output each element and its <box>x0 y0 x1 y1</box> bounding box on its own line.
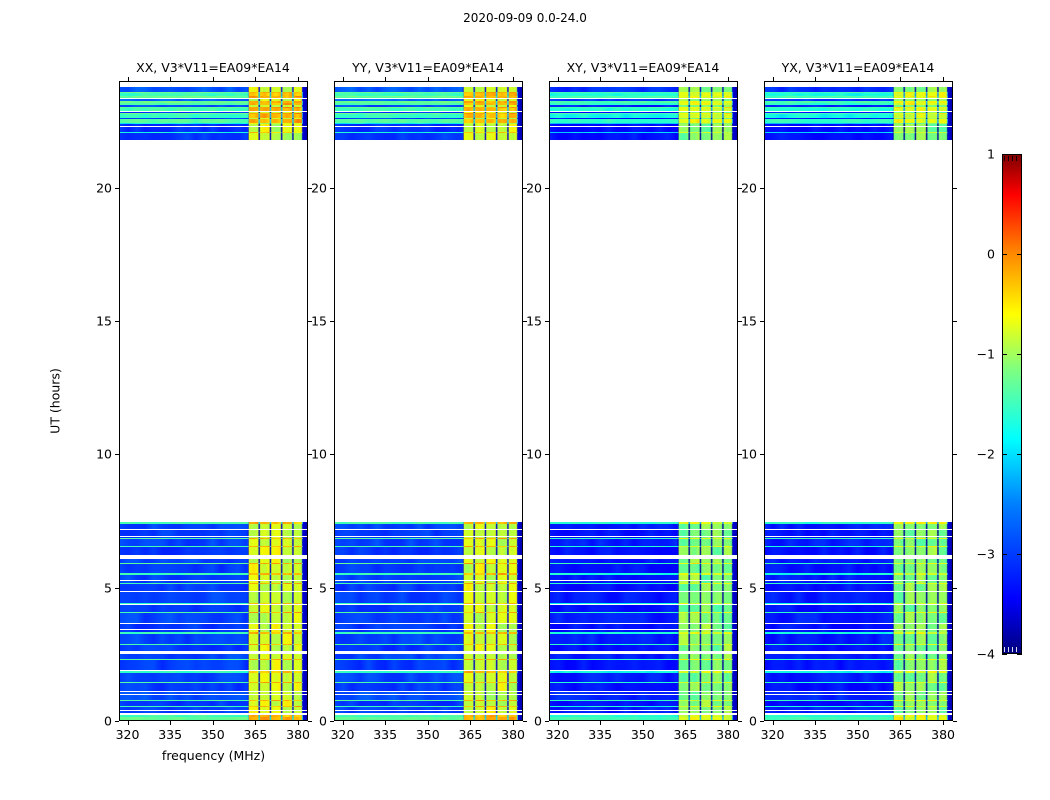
heatmap-row-band <box>550 103 737 106</box>
heatmap-noise <box>550 575 737 583</box>
flagged-time-gap <box>335 580 522 581</box>
flagged-time-gap <box>550 710 737 711</box>
heatmap-noise <box>765 644 952 645</box>
x-tick-top <box>128 77 129 81</box>
heatmap-noise <box>120 539 307 545</box>
heatmap-row-band <box>120 573 307 575</box>
heatmap-row-band <box>550 118 737 119</box>
y-tick <box>330 454 334 455</box>
heatmap-noise <box>120 529 307 530</box>
heatmap-row-band <box>120 683 307 690</box>
heatmap-noise <box>765 573 952 575</box>
x-tick-label: 335 <box>373 727 397 742</box>
heatmap-noise <box>765 119 952 123</box>
heatmap-noise <box>765 555 952 557</box>
heatmap-noise <box>120 546 307 547</box>
heatmap-noise <box>120 644 307 645</box>
heatmap-noise <box>120 563 307 564</box>
heatmap-row-band <box>335 563 522 564</box>
heatmap-row-band <box>550 547 737 555</box>
heatmap-row-band <box>120 118 307 119</box>
heatmap-row-band <box>120 547 307 555</box>
heatmap-noise <box>550 92 737 94</box>
x-tick <box>815 721 816 725</box>
heatmap-noise <box>335 652 522 654</box>
y-tick-label: 5 <box>749 580 757 595</box>
heatmap-noise <box>335 682 522 683</box>
x-tick-top <box>170 77 171 81</box>
x-tick <box>643 721 644 725</box>
y-tick <box>115 321 119 322</box>
heatmap-row-band <box>335 99 522 102</box>
heatmap-row-band <box>765 564 952 573</box>
y-tick-right <box>953 588 957 589</box>
heatmap-row-band <box>550 652 737 654</box>
heatmap-noise <box>765 583 952 584</box>
heatmap-noise <box>550 103 737 106</box>
heatmap-row-band <box>120 700 307 701</box>
heatmap-noise <box>335 691 522 692</box>
heatmap-row-band <box>120 563 307 564</box>
y-tick <box>330 588 334 589</box>
heatmap-noise <box>335 92 522 94</box>
heatmap-noise <box>335 114 522 117</box>
heatmap-axes-xx[interactable] <box>119 81 308 721</box>
heatmap-row-band <box>335 644 522 645</box>
heatmap-row-band <box>120 717 307 720</box>
heatmap-noise <box>550 123 737 124</box>
heatmap-noise <box>550 105 737 107</box>
heatmap-noise <box>120 522 307 524</box>
heatmap-row-band <box>120 123 307 124</box>
flagged-time-gap <box>120 710 307 711</box>
heatmap-noise <box>765 683 952 690</box>
heatmap-noise <box>765 623 952 624</box>
heatmap-row-band <box>335 573 522 575</box>
y-tick-right <box>738 588 742 589</box>
heatmap-noise <box>550 132 737 133</box>
heatmap-row-band <box>335 659 522 660</box>
heatmap-noise <box>550 114 737 117</box>
flagged-time-gap <box>120 580 307 581</box>
y-tick-label: 5 <box>534 580 542 595</box>
heatmap-row-band <box>335 101 522 102</box>
flagged-time-gap <box>335 536 522 537</box>
x-tick-top <box>470 77 471 81</box>
flagged-time-gap <box>550 98 737 99</box>
x-tick-label: 320 <box>331 727 355 742</box>
heatmap-row-band <box>335 555 522 557</box>
heatmap-noise <box>765 691 952 692</box>
flagged-time-gap <box>120 629 307 630</box>
x-tick <box>558 721 559 725</box>
heatmap-row-band <box>765 87 952 92</box>
heatmap-noise <box>550 555 737 557</box>
colorbar-gradient <box>1002 154 1022 654</box>
heatmap-row-band <box>550 584 737 591</box>
heatmap-noise <box>765 103 952 106</box>
flagged-time-gap <box>765 98 952 99</box>
heatmap-noise <box>765 132 952 133</box>
heatmap-row-band <box>120 132 307 133</box>
heatmap-row-band <box>120 107 307 108</box>
heatmap-noise <box>335 659 522 660</box>
heatmap-noise <box>550 99 737 102</box>
heatmap-noise <box>765 123 952 124</box>
heatmap-noise <box>120 538 307 540</box>
heatmap-noise <box>765 682 952 683</box>
heatmap-noise <box>550 659 737 660</box>
heatmap-axes-yy[interactable] <box>334 81 523 721</box>
heatmap-noise <box>335 713 522 714</box>
panel-yx[interactable]: YX, V3*V11=EA09*EA1432033535036538005101… <box>764 81 953 721</box>
heatmap-row-band <box>335 113 522 114</box>
heatmap-row-band <box>120 612 307 614</box>
heatmap-noise <box>120 123 307 124</box>
heatmap-row-band <box>335 632 522 634</box>
y-tick-label: 15 <box>526 314 542 329</box>
y-tick-label: 0 <box>534 714 542 729</box>
heatmap-row-band <box>120 706 307 708</box>
heatmap-noise <box>335 93 522 96</box>
heatmap-row-band <box>550 654 737 659</box>
x-tick-top <box>298 77 299 81</box>
x-tick-label: 350 <box>846 727 870 742</box>
flagged-time-gap <box>335 126 522 128</box>
panel-yy[interactable]: YY, V3*V11=EA09*EA1432033535036538005101… <box>334 81 523 721</box>
heatmap-row-band <box>335 700 522 701</box>
heatmap-row-band <box>765 539 952 545</box>
heatmap-row-band <box>765 132 952 133</box>
y-tick <box>330 188 334 189</box>
heatmap-row-band <box>765 584 952 591</box>
heatmap-noise <box>335 524 522 529</box>
heatmap-noise <box>335 717 522 720</box>
heatmap-noise <box>550 613 737 622</box>
heatmap-noise <box>120 564 307 573</box>
heatmap-row-band <box>765 92 952 94</box>
heatmap-row-band <box>550 524 737 529</box>
heatmap-row-band <box>120 103 307 106</box>
y-tick <box>545 454 549 455</box>
flagged-time-gap <box>120 111 307 112</box>
heatmap-noise <box>120 96 307 97</box>
heatmap-noise <box>335 573 522 575</box>
heatmap-noise <box>120 113 307 114</box>
colorbar-tick <box>1002 454 1007 455</box>
heatmap-noise <box>335 706 522 708</box>
colorbar-tick-label: 0 <box>987 247 995 262</box>
heatmap-noise <box>550 119 737 123</box>
heatmap-row-band <box>765 654 952 659</box>
colorbar-tick <box>1002 554 1007 555</box>
flagged-time-gap <box>120 651 307 652</box>
heatmap-noise <box>550 583 737 584</box>
y-tick-right <box>953 454 957 455</box>
heatmap-noise <box>335 632 522 634</box>
heatmap-noise <box>765 564 952 573</box>
heatmap-noise <box>765 113 952 114</box>
x-tick-label: 350 <box>631 727 655 742</box>
heatmap-row-band <box>335 612 522 614</box>
heatmap-noise <box>120 682 307 683</box>
heatmap-row-band <box>120 634 307 644</box>
heatmap-row-band <box>335 132 522 133</box>
y-tick <box>545 321 549 322</box>
x-tick <box>600 721 601 725</box>
heatmap-noise <box>120 103 307 106</box>
heatmap-row-band <box>335 92 522 94</box>
heatmap-noise <box>120 93 307 96</box>
heatmap-row-band <box>120 644 307 645</box>
x-tick-label: 380 <box>501 727 525 742</box>
heatmap-row-band <box>335 683 522 690</box>
heatmap-noise <box>765 105 952 107</box>
heatmap-noise <box>120 623 307 624</box>
heatmap-noise <box>765 87 952 92</box>
x-tick-label: 365 <box>673 727 697 742</box>
heatmap-row-band <box>550 634 737 644</box>
x-tick-top <box>943 77 944 81</box>
heatmap-row-band <box>550 573 737 575</box>
flagged-time-gap <box>335 111 522 112</box>
x-tick-top <box>213 77 214 81</box>
heatmap-noise <box>765 563 952 564</box>
x-tick-label: 365 <box>458 727 482 742</box>
heatmap-row-band <box>765 683 952 690</box>
heatmap-row-band <box>120 701 307 705</box>
heatmap-noise <box>335 604 522 611</box>
heatmap-noise <box>120 659 307 660</box>
colorbar-tick-label: −4 <box>977 647 995 662</box>
heatmap-row-band <box>550 717 737 720</box>
flagged-time-gap <box>550 670 737 671</box>
heatmap-noise <box>765 717 952 720</box>
heatmap-noise <box>550 671 737 673</box>
heatmap-row-band <box>765 691 952 692</box>
y-tick-label: 10 <box>741 447 757 462</box>
heatmap-row-band <box>120 632 307 634</box>
heatmap-row-band <box>550 632 737 634</box>
x-tick-top <box>343 77 344 81</box>
flagged-time-gap <box>765 126 952 128</box>
heatmap-noise <box>765 547 952 555</box>
heatmap-noise <box>550 634 737 644</box>
flagged-time-gap <box>335 604 522 605</box>
heatmap-row-band <box>550 691 737 692</box>
y-tick-label: 0 <box>749 714 757 729</box>
y-tick-label: 10 <box>311 447 327 462</box>
heatmap-row-band <box>765 583 952 584</box>
heatmap-noise <box>765 575 952 583</box>
heatmap-row-band <box>765 632 952 634</box>
heatmap-noise <box>120 573 307 575</box>
heatmap-row-band <box>765 114 952 117</box>
heatmap-noise <box>765 612 952 614</box>
figure-suptitle: 2020-09-09 0.0-24.0 <box>0 11 1050 25</box>
heatmap-row-band <box>335 93 522 96</box>
y-tick <box>760 321 764 322</box>
x-tick <box>385 721 386 725</box>
heatmap-row-band <box>550 123 737 124</box>
heatmap-noise <box>550 101 737 102</box>
heatmap-noise <box>335 529 522 530</box>
colorbar-extend-bottom <box>1004 647 1020 652</box>
x-tick-top <box>728 77 729 81</box>
heatmap-row-band <box>335 584 522 591</box>
heatmap-row-band <box>550 119 737 123</box>
y-tick <box>115 188 119 189</box>
flagged-time-gap <box>550 651 737 652</box>
x-tick <box>428 721 429 725</box>
heatmap-row-band <box>765 93 952 96</box>
heatmap-noise <box>765 673 952 682</box>
heatmap-noise <box>120 632 307 634</box>
heatmap-row-band <box>765 573 952 575</box>
flagged-time-gap <box>335 670 522 671</box>
heatmap-row-band <box>550 592 737 603</box>
heatmap-row-band <box>335 654 522 659</box>
flagged-time-gap <box>550 604 737 605</box>
heatmap-row-band <box>550 113 737 114</box>
heatmap-row-band <box>335 701 522 705</box>
y-tick <box>330 321 334 322</box>
y-tick-right <box>953 188 957 189</box>
heatmap-row-band <box>765 96 952 97</box>
heatmap-noise <box>335 555 522 557</box>
heatmap-noise <box>335 87 522 92</box>
heatmap-row-band <box>765 119 952 123</box>
no-data-region <box>550 140 737 522</box>
heatmap-noise <box>765 584 952 591</box>
heatmap-axes-xy[interactable] <box>549 81 738 721</box>
y-tick-right <box>308 721 312 722</box>
y-tick-label: 10 <box>96 447 112 462</box>
flagged-time-gap <box>120 98 307 99</box>
heatmap-row-band <box>120 671 307 673</box>
heatmap-row-band <box>335 575 522 583</box>
heatmap-row-band <box>765 529 952 530</box>
heatmap-row-band <box>335 103 522 106</box>
heatmap-row-band <box>765 546 952 547</box>
colorbar[interactable]: −4−3−2−101 log10 amplitude <box>1002 154 1022 654</box>
colorbar-tick-label: −1 <box>977 347 995 362</box>
x-tick-top <box>815 77 816 81</box>
flagged-time-gap <box>765 580 952 581</box>
heatmap-row-band <box>765 538 952 540</box>
panel-xx[interactable]: XX, V3*V11=EA09*EA1432033535036538005101… <box>119 81 308 721</box>
heatmap-noise <box>335 539 522 545</box>
flagged-time-gap <box>765 536 952 537</box>
heatmap-row-band <box>550 644 737 645</box>
heatmap-row-band <box>120 105 307 107</box>
heatmap-row-band <box>120 101 307 102</box>
heatmap-row-band <box>765 717 952 720</box>
heatmap-row-band <box>550 538 737 540</box>
heatmap-noise <box>335 584 522 591</box>
heatmap-noise <box>765 654 952 659</box>
colorbar-extend-top <box>1004 156 1020 161</box>
flagged-time-gap <box>765 670 952 671</box>
heatmap-row-band <box>335 706 522 708</box>
colorbar-tick-label: −2 <box>977 447 995 462</box>
heatmap-noise <box>765 671 952 673</box>
heatmap-noise <box>120 700 307 701</box>
heatmap-row-band <box>120 673 307 682</box>
y-tick-label: 15 <box>311 314 327 329</box>
heatmap-axes-yx[interactable] <box>764 81 953 721</box>
heatmap-row-band <box>765 671 952 673</box>
heatmap-row-band <box>335 133 522 140</box>
heatmap-row-band <box>765 133 952 140</box>
heatmap-noise <box>120 118 307 119</box>
x-tick <box>513 721 514 725</box>
x-tick-label: 380 <box>286 727 310 742</box>
flagged-time-gap <box>765 694 952 695</box>
heatmap-noise <box>120 713 307 714</box>
heatmap-row-band <box>335 715 522 718</box>
x-tick-top <box>558 77 559 81</box>
heatmap-noise <box>335 99 522 102</box>
y-tick <box>760 454 764 455</box>
heatmap-noise <box>550 673 737 682</box>
heatmap-row-band <box>120 591 307 593</box>
heatmap-row-band <box>550 583 737 584</box>
heatmap-noise <box>335 522 522 524</box>
x-tick-label: 350 <box>416 727 440 742</box>
heatmap-row-band <box>120 604 307 611</box>
flagged-time-gap <box>550 694 737 695</box>
heatmap-noise <box>765 522 952 524</box>
x-tick <box>255 721 256 725</box>
heatmap-noise <box>765 92 952 94</box>
heatmap-row-band <box>335 564 522 573</box>
x-tick-label: 320 <box>546 727 570 742</box>
heatmap-noise <box>550 563 737 564</box>
heatmap-row-band <box>120 713 307 714</box>
y-axis-label: UT (hours) <box>48 368 63 434</box>
heatmap-noise <box>765 546 952 547</box>
x-tick-label: 320 <box>116 727 140 742</box>
y-tick-label: 15 <box>96 314 112 329</box>
x-tick <box>685 721 686 725</box>
x-tick-label: 320 <box>761 727 785 742</box>
heatmap-row-band <box>120 133 307 140</box>
heatmap-row-band <box>550 96 737 97</box>
heatmap-noise <box>550 715 737 718</box>
heatmap-row-band <box>335 524 522 529</box>
x-tick <box>900 721 901 725</box>
heatmap-noise <box>120 654 307 659</box>
heatmap-noise <box>765 96 952 97</box>
colorbar-tick-label: −3 <box>977 547 995 562</box>
heatmap-row-band <box>335 547 522 555</box>
heatmap-row-band <box>550 105 737 107</box>
x-tick-top <box>428 77 429 81</box>
heatmap-noise <box>550 524 737 529</box>
heatmap-row-band <box>550 612 737 614</box>
heatmap-noise <box>335 538 522 540</box>
heatmap-row-band <box>120 522 307 524</box>
heatmap-row-band <box>120 87 307 92</box>
heatmap-noise <box>765 538 952 540</box>
flagged-time-gap <box>765 710 952 711</box>
heatmap-noise <box>335 575 522 583</box>
heatmap-noise <box>550 632 737 634</box>
flagged-time-gap <box>765 651 952 652</box>
panel-xy[interactable]: XY, V3*V11=EA09*EA1432033535036538005101… <box>549 81 738 721</box>
heatmap-noise <box>335 564 522 573</box>
